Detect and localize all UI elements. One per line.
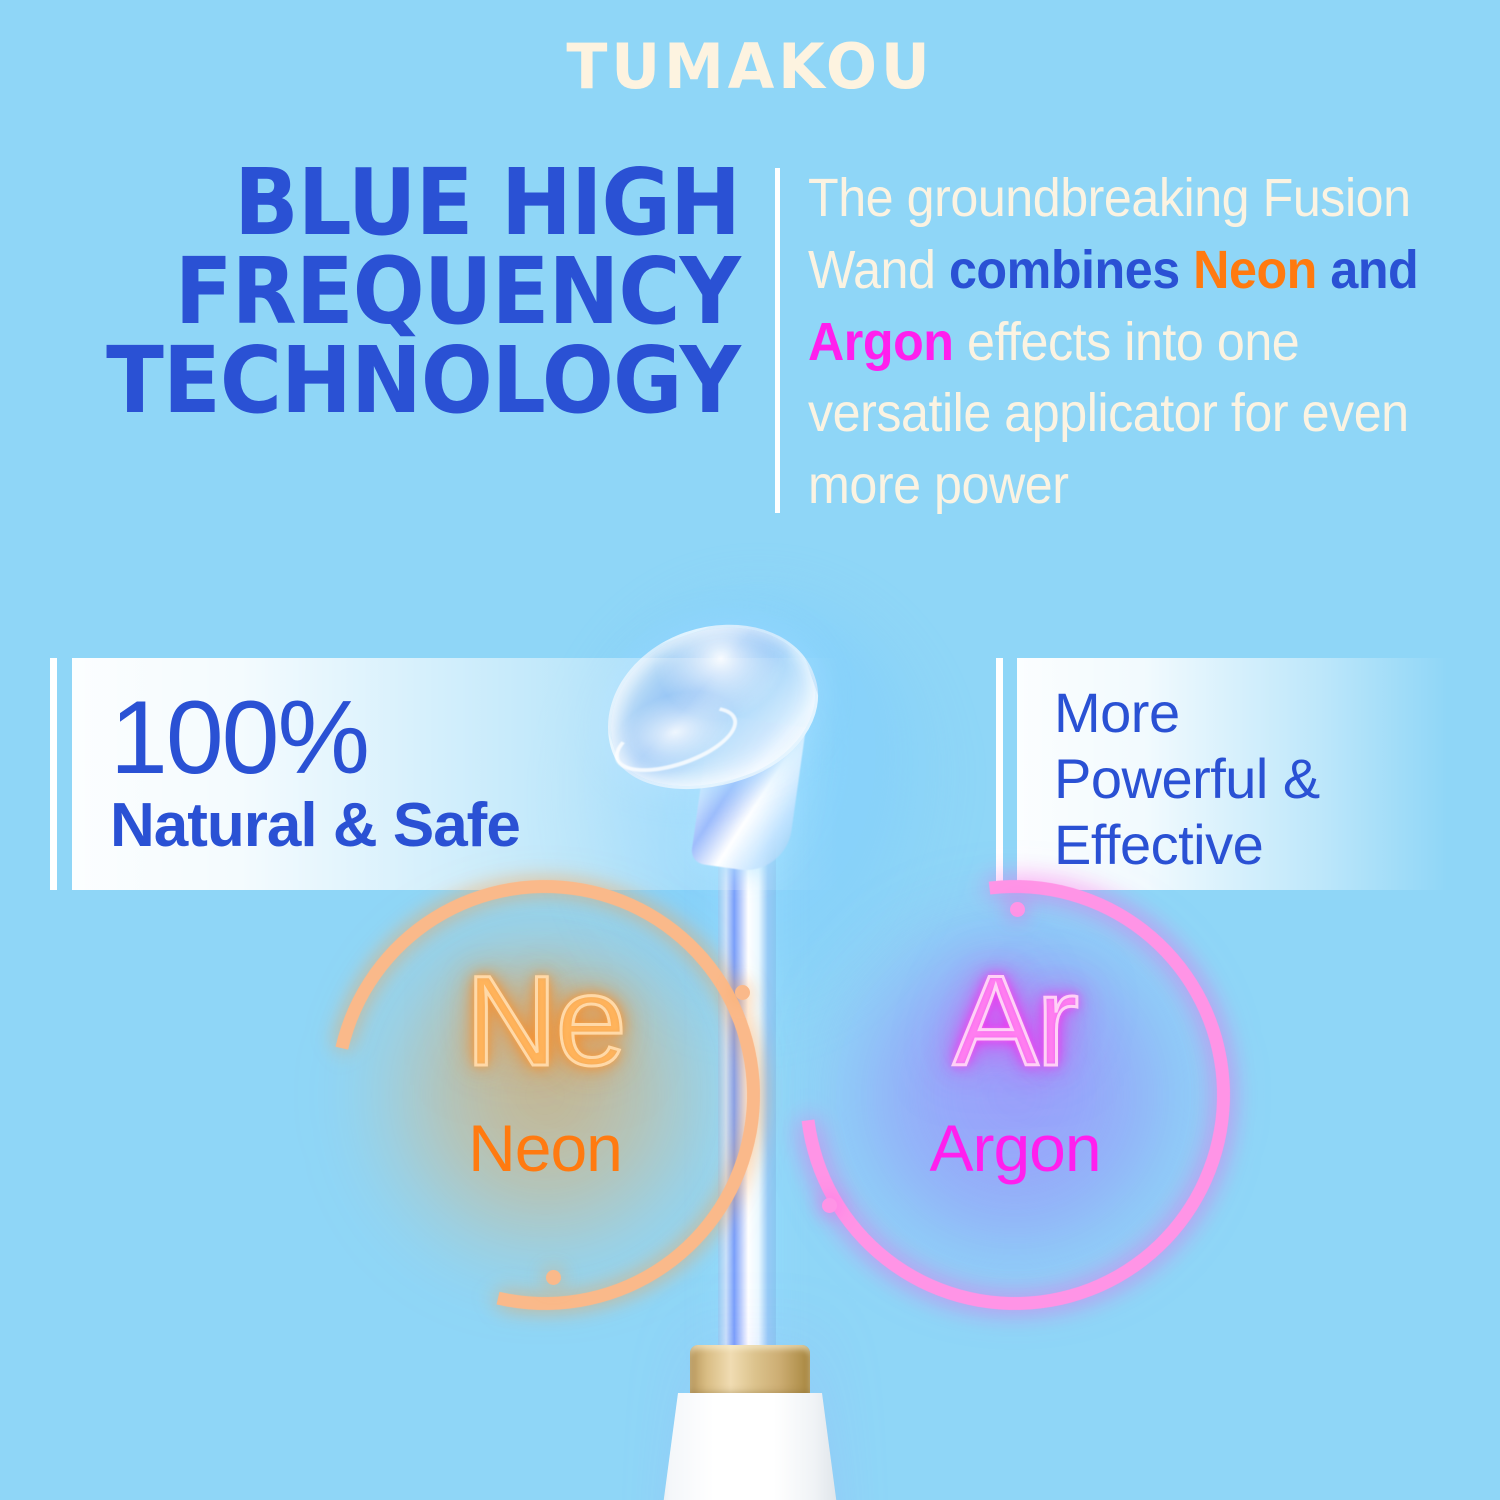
badge-left-value: 100% <box>110 686 520 790</box>
badge-right-line-3: Effective <box>1054 812 1320 878</box>
wand-gold-band <box>690 1345 810 1397</box>
badge-left-accent-bar <box>50 658 57 890</box>
brand-logo: TUMAKOU <box>23 30 1478 103</box>
lede-space-2 <box>1317 240 1330 300</box>
lede-emphasis-and: and <box>1330 240 1418 300</box>
argon-tube-cap-end <box>822 1198 837 1213</box>
argon-ring-tube <box>713 793 1317 1397</box>
element-ring-argon: Ar Argon <box>800 880 1230 1310</box>
argon-element-label: Argon <box>800 1110 1230 1186</box>
headline-divider <box>775 168 780 513</box>
badge-more-powerful: More Powerful & Effective <box>996 658 1448 890</box>
badge-right-line-1: More <box>1054 680 1320 746</box>
argon-tube-cap-start <box>1010 902 1025 917</box>
badge-right-content: More Powerful & Effective <box>1054 680 1320 878</box>
neon-element-label: Neon <box>330 1110 760 1186</box>
badge-right-line-2: Powerful & <box>1054 746 1320 812</box>
neon-element-symbol: Ne <box>330 958 760 1086</box>
promo-canvas: TUMAKOU BLUE HIGH FREQUENCY TECHNOLOGY T… <box>0 0 1500 1500</box>
badge-left-content: 100% Natural & Safe <box>110 686 520 860</box>
lede-emphasis-neon: Neon <box>1193 240 1317 300</box>
headline-line-3: TECHNOLOGY <box>96 336 740 425</box>
lede-emphasis-argon: Argon <box>808 312 954 372</box>
badge-left-subtitle: Natural & Safe <box>110 792 520 860</box>
badge-right-accent-bar <box>996 658 1003 890</box>
headline-line-2: FREQUENCY <box>96 247 740 336</box>
element-ring-neon: Ne Neon <box>330 880 760 1310</box>
description-paragraph: The groundbreaking Fusion Wand combines … <box>808 163 1422 522</box>
lede-space-1 <box>1180 240 1193 300</box>
headline-line-1: BLUE HIGH <box>96 158 740 247</box>
page-title: BLUE HIGH FREQUENCY TECHNOLOGY <box>96 158 740 426</box>
neon-ring-tube <box>249 799 842 1392</box>
neon-tube-cap-start <box>546 1270 561 1285</box>
badge-natural-safe: 100% Natural & Safe <box>50 658 840 890</box>
wand-handle-body <box>650 1393 850 1500</box>
argon-element-symbol: Ar <box>800 958 1230 1086</box>
lede-emphasis-combines: combines <box>949 240 1180 300</box>
